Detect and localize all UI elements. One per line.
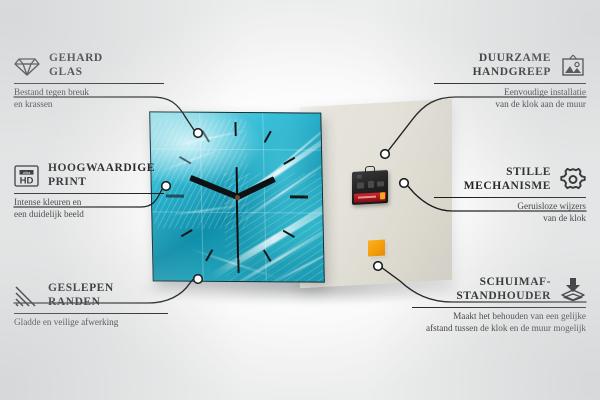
feature-desc-line2: een duidelijk beeld: [14, 209, 84, 219]
feature-title-line1: DUURZAME: [479, 52, 551, 64]
feature-desc: Intense kleuren en een duidelijk beeld: [14, 197, 164, 220]
feature-desc: Geruisloze wijzers van de klok: [434, 201, 586, 224]
feature-rule: [14, 83, 164, 84]
feature-desc: Bestand tegen breuk en krassen: [14, 87, 164, 110]
mechanism-hanging-hook: [365, 166, 375, 174]
feature-title-line2: HANDGREEP: [473, 66, 551, 78]
mechanism-knob: [368, 181, 374, 188]
feature-desc-line1: Maakt het behouden van een gelijke: [453, 311, 586, 321]
infographic-canvas: GEHARD GLAS Bestand tegen breuk en krass…: [0, 0, 600, 400]
hour-tick-6: [237, 259, 239, 273]
feature-title-line1: STILLE: [506, 166, 551, 178]
feature-rule: [412, 307, 586, 308]
battery-positive-terminal: [380, 192, 385, 199]
feature-desc-line1: Intense kleuren en: [14, 197, 81, 207]
feature-desc: Gladde en veilige afwerking: [14, 317, 168, 328]
feature-geslepen-randen: GESLEPEN RANDEN Gladde en veilige afwerk…: [14, 282, 168, 329]
feature-desc: Maakt het behouden van een gelijke afsta…: [412, 311, 586, 334]
battery-label: [358, 195, 376, 198]
feature-hoogwaardige-print: ultra HD HOOGWAARDIGE PRINT Intense kleu…: [14, 162, 164, 220]
feature-gehard-glas: GEHARD GLAS Bestand tegen breuk en krass…: [14, 52, 164, 110]
feature-desc-line1: Geruisloze wijzers: [517, 201, 586, 211]
feature-duurzame-handgreep: DUURZAME HANDGREEP Eenvoudige installati…: [434, 52, 586, 110]
mechanism-knob: [357, 182, 364, 188]
ultra-hd-icon: ultra HD: [14, 164, 39, 188]
feature-desc-line1: Gladde en veilige afwerking: [14, 317, 118, 327]
feature-title-line1: GEHARD: [49, 52, 103, 64]
foam-spacer-icon: [560, 277, 586, 302]
hour-tick-9: [166, 195, 184, 199]
gear-icon: [560, 167, 586, 192]
ultra-hd-icon-small-text: ultra: [23, 169, 31, 174]
picture-frame-icon: [560, 54, 586, 78]
mechanism-knob: [357, 174, 362, 178]
clock-battery: [354, 192, 386, 203]
hour-tick-3: [290, 195, 308, 199]
bevelled-edges-icon: [14, 285, 39, 307]
ultra-hd-icon-large-text: HD: [20, 175, 34, 186]
feature-title-line1: GESLEPEN: [48, 282, 114, 294]
feature-rule: [434, 83, 586, 84]
feature-title-line1: SCHUIMAF-: [480, 276, 551, 288]
feature-rule: [14, 313, 168, 314]
feature-desc-line2: van de klok: [543, 213, 586, 223]
feature-schuimafstandhouder: SCHUIMAF- STANDHOUDER Maakt het behouden…: [412, 276, 586, 334]
feature-title-line1: HOOGWAARDIGE: [48, 162, 155, 174]
feature-rule: [14, 193, 164, 194]
diamond-icon: [14, 55, 40, 77]
clock-hand-pivot: [234, 194, 239, 199]
glass-clock-face: [149, 111, 325, 282]
feature-title-line2: STANDHOUDER: [456, 290, 551, 302]
feature-desc-line2: van de klok aan de muur: [495, 99, 586, 109]
hour-tick-12: [234, 122, 236, 136]
feature-desc: Eenvoudige installatie van de klok aan d…: [434, 87, 586, 110]
feature-rule: [434, 197, 586, 198]
feature-desc-line2: afstand tussen de klok en de muur mogeli…: [426, 323, 586, 333]
feature-title-line2: RANDEN: [48, 296, 101, 308]
feature-desc-line1: Eenvoudige installatie: [504, 87, 586, 97]
feature-desc-line2: en krassen: [14, 99, 53, 109]
feature-title-line2: PRINT: [48, 176, 87, 188]
foam-spacer-pad: [368, 240, 385, 257]
feature-title-line2: MECHANISME: [464, 180, 551, 192]
feature-stille-mechanisme: STILLE MECHANISME Geruisloze wijzers van…: [434, 166, 586, 224]
feature-title-line2: GLAS: [49, 66, 83, 78]
clock-mechanism: [352, 170, 388, 205]
mechanism-knob: [377, 181, 384, 186]
feature-desc-line1: Bestand tegen breuk: [14, 87, 89, 97]
